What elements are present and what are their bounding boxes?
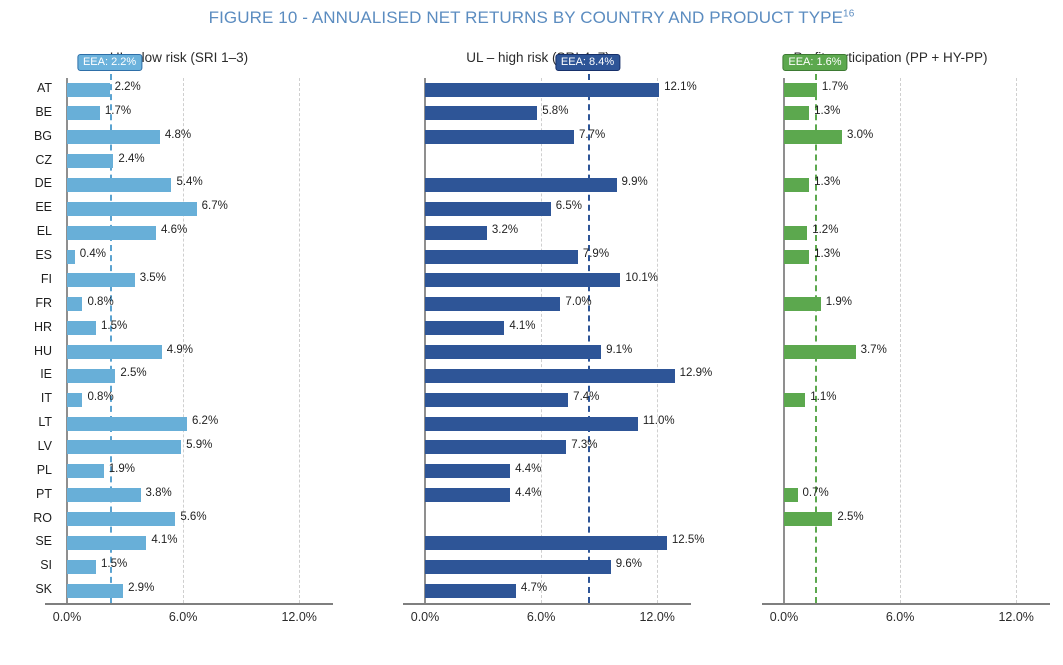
bar-pt[interactable]	[425, 488, 510, 502]
bar-value-label: 1.7%	[105, 105, 131, 117]
bar-value-label: 2.4%	[118, 153, 144, 165]
bar-row-pl[interactable]: 4.4%	[425, 460, 692, 484]
bar-row-se[interactable]: 4.1%	[67, 531, 334, 555]
bar-de[interactable]	[784, 178, 809, 192]
bar-value-label: 1.9%	[826, 296, 852, 308]
bar-row-hu[interactable]: 9.1%	[425, 341, 692, 365]
bar-it[interactable]	[784, 393, 805, 407]
bar-row-ee[interactable]: 6.5%	[425, 197, 692, 221]
bar-ro[interactable]	[784, 512, 832, 526]
bar-ie[interactable]	[67, 369, 115, 383]
bar-value-label: 5.6%	[180, 511, 206, 523]
bar-row-it[interactable]: 1.1%	[784, 388, 1051, 412]
bar-value-label: 4.7%	[521, 582, 547, 594]
bar-value-label: 3.5%	[140, 272, 166, 284]
bar-value-label: 10.1%	[625, 272, 658, 284]
bar-value-label: 3.0%	[847, 129, 873, 141]
bar-value-label: 4.8%	[165, 129, 191, 141]
bar-row-ie[interactable]: 2.5%	[67, 364, 334, 388]
bar-ro[interactable]	[67, 512, 175, 526]
bar-be[interactable]	[67, 106, 100, 120]
bar-row-sk[interactable]	[784, 579, 1051, 603]
bar-row-lv[interactable]: 7.3%	[425, 436, 692, 460]
x-axis-line	[45, 603, 333, 605]
bar-si[interactable]	[67, 560, 96, 574]
figure-title: FIGURE 10 - ANNUALISED NET RETURNS BY CO…	[0, 8, 1063, 28]
bar-hr[interactable]	[67, 321, 96, 335]
bar-value-label: 11.0%	[643, 415, 675, 427]
bar-el[interactable]	[784, 226, 807, 240]
bar-value-label: 9.9%	[622, 176, 648, 188]
panel-profit-participation: Profit participation (PP + HY-PP) 0.0%6.…	[718, 50, 1063, 660]
plot-area: 0.0%6.0%12.0%EEA: 1.6%1.7%1.3%3.0%1.3%1.…	[784, 78, 1051, 603]
bar-ee[interactable]	[67, 202, 197, 216]
bar-row-si[interactable]	[784, 555, 1051, 579]
bar-value-label: 1.5%	[101, 558, 127, 570]
bar-row-de[interactable]: 9.9%	[425, 173, 692, 197]
x-tick-label: 6.0%	[886, 610, 915, 624]
bar-es[interactable]	[67, 250, 75, 264]
bar-row-se[interactable]	[784, 531, 1051, 555]
panel-ul-low-risk: UL – low risk (SRI 1–3) 0.0%6.0%12.0%EEA…	[0, 50, 358, 660]
bar-sk[interactable]	[425, 584, 516, 598]
bar-be[interactable]	[425, 106, 537, 120]
bar-hr[interactable]	[425, 321, 504, 335]
bar-value-label: 9.1%	[606, 344, 632, 356]
x-tick-label: 6.0%	[527, 610, 556, 624]
bar-value-label: 12.9%	[680, 367, 713, 379]
bar-es[interactable]	[784, 250, 809, 264]
bar-row-pl[interactable]	[784, 460, 1051, 484]
bar-it[interactable]	[67, 393, 82, 407]
x-tick-label: 0.0%	[411, 610, 440, 624]
bar-row-be[interactable]: 1.3%	[784, 102, 1051, 126]
figure-footnote-marker: 16	[843, 8, 854, 19]
bar-lt[interactable]	[67, 417, 187, 431]
bar-ee[interactable]	[425, 202, 551, 216]
bar-pt[interactable]	[67, 488, 141, 502]
bar-row-lt[interactable]: 11.0%	[425, 412, 692, 436]
bar-row-sk[interactable]: 4.7%	[425, 579, 692, 603]
bar-value-label: 1.7%	[822, 81, 848, 93]
x-axis-line	[762, 603, 1050, 605]
bar-value-label: 1.3%	[814, 248, 840, 260]
bar-fi[interactable]	[425, 273, 620, 287]
bar-fr[interactable]	[784, 297, 821, 311]
bar-row-de[interactable]: 5.4%	[67, 173, 334, 197]
bar-de[interactable]	[67, 178, 171, 192]
bar-value-label: 6.2%	[192, 415, 218, 427]
bar-row-pl[interactable]: 1.9%	[67, 460, 334, 484]
bar-row-ee[interactable]: 6.7%	[67, 197, 334, 221]
x-tick-label: 12.0%	[998, 610, 1033, 624]
bar-row-at[interactable]: 2.2%	[67, 78, 334, 102]
bar-row-el[interactable]: 1.2%	[784, 221, 1051, 245]
bar-value-label: 1.5%	[101, 320, 127, 332]
bar-row-de[interactable]: 1.3%	[784, 173, 1051, 197]
bar-value-label: 1.2%	[812, 224, 838, 236]
x-axis-line	[403, 603, 691, 605]
x-tick-label: 6.0%	[169, 610, 198, 624]
bar-value-label: 0.4%	[80, 248, 106, 260]
bar-row-el[interactable]: 3.2%	[425, 221, 692, 245]
bar-row-ee[interactable]	[784, 197, 1051, 221]
bar-row-it[interactable]: 7.4%	[425, 388, 692, 412]
bar-pl[interactable]	[425, 464, 510, 478]
bar-row-fr[interactable]: 7.0%	[425, 293, 692, 317]
bar-row-hr[interactable]: 4.1%	[425, 317, 692, 341]
bar-row-hu[interactable]: 4.9%	[67, 341, 334, 365]
bar-value-label: 3.8%	[146, 487, 172, 499]
bar-value-label: 4.1%	[509, 320, 535, 332]
figure-title-text: FIGURE 10 - ANNUALISED NET RETURNS BY CO…	[209, 8, 843, 27]
bar-row-ro[interactable]: 5.6%	[67, 508, 334, 532]
bar-row-cz[interactable]: 2.4%	[67, 150, 334, 174]
bar-row-pt[interactable]: 4.4%	[425, 484, 692, 508]
bar-row-bg[interactable]: 4.8%	[67, 126, 334, 150]
bar-sk[interactable]	[67, 584, 123, 598]
panel-title: Profit participation (PP + HY-PP)	[718, 50, 1063, 65]
bar-value-label: 0.8%	[87, 296, 113, 308]
x-tick-label: 12.0%	[639, 610, 674, 624]
panel-ul-high-risk: UL – high risk (SRI 4–7) 0.0%6.0%12.0%EE…	[358, 50, 718, 660]
bar-row-se[interactable]: 12.5%	[425, 531, 692, 555]
bar-value-label: 1.3%	[814, 176, 840, 188]
bar-row-es[interactable]: 1.3%	[784, 245, 1051, 269]
bar-value-label: 1.1%	[810, 391, 836, 403]
bar-row-si[interactable]: 1.5%	[67, 555, 334, 579]
bar-at[interactable]	[425, 83, 659, 97]
bar-row-be[interactable]: 5.8%	[425, 102, 692, 126]
bar-value-label: 5.8%	[542, 105, 568, 117]
bar-el[interactable]	[67, 226, 156, 240]
bar-row-ie[interactable]: 12.9%	[425, 364, 692, 388]
bar-value-label: 2.9%	[128, 582, 154, 594]
bar-row-hr[interactable]: 1.5%	[67, 317, 334, 341]
bar-row-es[interactable]: 0.4%	[67, 245, 334, 269]
bar-row-hu[interactable]: 3.7%	[784, 341, 1051, 365]
panel-title: UL – high risk (SRI 4–7)	[358, 50, 718, 65]
bar-value-label: 6.7%	[202, 200, 228, 212]
bar-row-es[interactable]: 7.9%	[425, 245, 692, 269]
bar-se[interactable]	[425, 536, 667, 550]
bar-row-cz[interactable]	[784, 150, 1051, 174]
bar-bg[interactable]	[67, 130, 160, 144]
bar-value-label: 7.3%	[571, 439, 597, 451]
bar-value-label: 3.2%	[492, 224, 518, 236]
bar-value-label: 7.9%	[583, 248, 609, 260]
bar-hu[interactable]	[784, 345, 856, 359]
bar-value-label: 1.3%	[814, 105, 840, 117]
bar-row-si[interactable]: 9.6%	[425, 555, 692, 579]
eea-average-badge: EEA: 8.4%	[555, 54, 620, 71]
bar-value-label: 4.1%	[151, 534, 177, 546]
bar-value-label: 1.9%	[109, 463, 135, 475]
bar-de[interactable]	[425, 178, 617, 192]
bar-hu[interactable]	[425, 345, 601, 359]
bar-si[interactable]	[425, 560, 611, 574]
bar-be[interactable]	[784, 106, 809, 120]
bar-cz[interactable]	[67, 154, 113, 168]
bar-value-label: 2.2%	[115, 81, 141, 93]
bar-value-label: 4.4%	[515, 463, 541, 475]
bar-row-lt[interactable]	[784, 412, 1051, 436]
bar-value-label: 12.5%	[672, 534, 705, 546]
plot-area: 0.0%6.0%12.0%EEA: 2.2%2.2%1.7%4.8%2.4%5.…	[67, 78, 334, 603]
bar-value-label: 2.5%	[120, 367, 146, 379]
bar-bg[interactable]	[425, 130, 574, 144]
bar-row-lv[interactable]	[784, 436, 1051, 460]
bar-row-hr[interactable]	[784, 317, 1051, 341]
bar-value-label: 3.7%	[861, 344, 887, 356]
bar-it[interactable]	[425, 393, 568, 407]
bar-at[interactable]	[67, 83, 110, 97]
bar-row-at[interactable]: 12.1%	[425, 78, 692, 102]
bar-value-label: 2.5%	[837, 511, 863, 523]
bar-row-at[interactable]: 1.7%	[784, 78, 1051, 102]
bar-se[interactable]	[67, 536, 146, 550]
bar-row-fi[interactable]	[784, 269, 1051, 293]
bar-row-ro[interactable]: 2.5%	[784, 508, 1051, 532]
bar-fr[interactable]	[425, 297, 560, 311]
bar-row-pt[interactable]: 3.8%	[67, 484, 334, 508]
bar-pl[interactable]	[67, 464, 104, 478]
bar-value-label: 7.4%	[573, 391, 599, 403]
bar-value-label: 4.4%	[515, 487, 541, 499]
bar-value-label: 9.6%	[616, 558, 642, 570]
bar-row-be[interactable]: 1.7%	[67, 102, 334, 126]
bar-pt[interactable]	[784, 488, 798, 502]
bar-row-fr[interactable]: 1.9%	[784, 293, 1051, 317]
bar-value-label: 7.0%	[565, 296, 591, 308]
bar-row-fr[interactable]: 0.8%	[67, 293, 334, 317]
x-tick-label: 0.0%	[53, 610, 82, 624]
bar-row-cz[interactable]	[425, 150, 692, 174]
bar-hu[interactable]	[67, 345, 162, 359]
bar-ie[interactable]	[425, 369, 675, 383]
bar-bg[interactable]	[784, 130, 842, 144]
bar-row-lv[interactable]: 5.9%	[67, 436, 334, 460]
bar-lv[interactable]	[425, 440, 566, 454]
bar-row-bg[interactable]: 7.7%	[425, 126, 692, 150]
bar-value-label: 6.5%	[556, 200, 582, 212]
bar-row-fi[interactable]: 10.1%	[425, 269, 692, 293]
eea-average-badge: EEA: 1.6%	[782, 54, 847, 71]
bar-row-lt[interactable]: 6.2%	[67, 412, 334, 436]
x-tick-label: 12.0%	[281, 610, 316, 624]
bar-row-it[interactable]: 0.8%	[67, 388, 334, 412]
bar-value-label: 4.9%	[167, 344, 193, 356]
bar-row-ie[interactable]	[784, 364, 1051, 388]
bar-fi[interactable]	[67, 273, 135, 287]
bar-value-label: 0.8%	[87, 391, 113, 403]
x-tick-label: 0.0%	[770, 610, 799, 624]
bar-lt[interactable]	[425, 417, 638, 431]
plot-area: 0.0%6.0%12.0%EEA: 8.4%12.1%5.8%7.7%9.9%6…	[425, 78, 692, 603]
bar-row-ro[interactable]	[425, 508, 692, 532]
bar-row-fi[interactable]: 3.5%	[67, 269, 334, 293]
bar-row-pt[interactable]: 0.7%	[784, 484, 1051, 508]
bar-at[interactable]	[784, 83, 817, 97]
panel-title: UL – low risk (SRI 1–3)	[0, 50, 358, 65]
bar-value-label: 5.4%	[176, 176, 202, 188]
bar-row-sk[interactable]: 2.9%	[67, 579, 334, 603]
bar-value-label: 4.6%	[161, 224, 187, 236]
bar-value-label: 0.7%	[803, 487, 829, 499]
bar-row-bg[interactable]: 3.0%	[784, 126, 1051, 150]
bar-fr[interactable]	[67, 297, 82, 311]
bar-value-label: 5.9%	[186, 439, 212, 451]
bar-row-el[interactable]: 4.6%	[67, 221, 334, 245]
bar-el[interactable]	[425, 226, 487, 240]
bar-value-label: 12.1%	[664, 81, 697, 93]
bar-lv[interactable]	[67, 440, 181, 454]
bar-value-label: 7.7%	[579, 129, 605, 141]
eea-average-badge: EEA: 2.2%	[77, 54, 142, 71]
bar-es[interactable]	[425, 250, 578, 264]
